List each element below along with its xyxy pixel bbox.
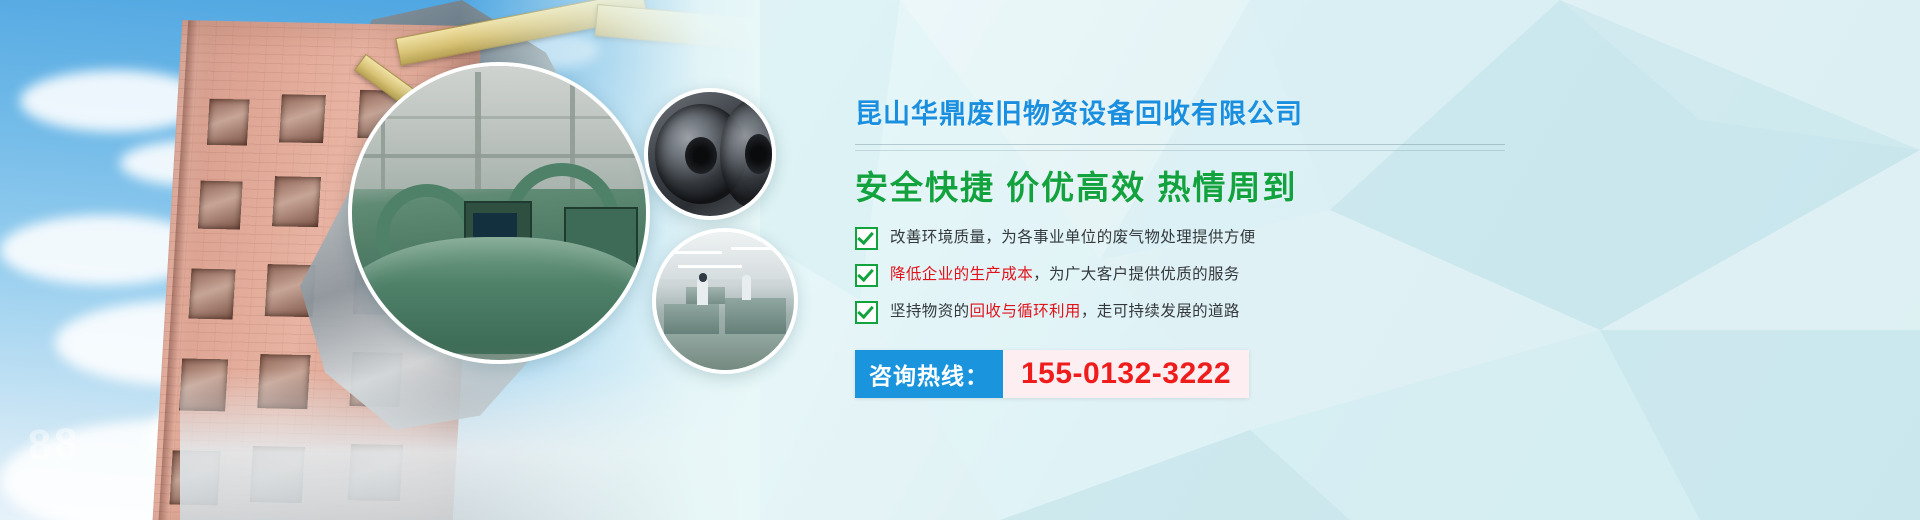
divider (855, 144, 1505, 151)
plain-phrase: 坚持物资的 (890, 303, 970, 320)
highlighted-phrase: 回收与循环利用 (970, 303, 1081, 320)
check-icon (855, 264, 878, 287)
chiller-photo (348, 62, 650, 364)
promo-banner: 88 (0, 0, 1920, 520)
benefit-list: 改善环境质量，为各事业单位的废气物处理提供方便 降低企业的生产成本，为广大客户提… (855, 227, 1555, 324)
watermark: 88 (27, 419, 82, 470)
pressure-tank (348, 237, 650, 355)
hotline-bar[interactable]: 咨询热线： 155-0132-3222 (855, 350, 1249, 398)
hotline-label: 咨询热线： (855, 350, 1003, 398)
workshop-floor (656, 334, 794, 370)
plain-phrase: ，走可持续发展的道路 (1081, 303, 1240, 320)
check-icon (855, 227, 878, 250)
list-item: 改善环境质量，为各事业单位的废气物处理提供方便 (855, 227, 1555, 250)
workshop-ceiling (656, 232, 794, 279)
factory-hall (352, 66, 646, 189)
benefit-text-1: 改善环境质量，为各事业单位的废气物处理提供方便 (890, 229, 1256, 248)
slogan: 安全快捷 价优高效 热情周到 (855, 161, 1555, 209)
benefit-text-3: 坚持物资的回收与循环利用，走可持续发展的道路 (890, 303, 1240, 322)
list-item: 坚持物资的回收与循环利用，走可持续发展的道路 (855, 301, 1555, 324)
steel-coils-photo (644, 88, 776, 220)
list-item: 降低企业的生产成本，为广大客户提供优质的服务 (855, 264, 1555, 287)
chiller-image (352, 66, 646, 360)
plain-phrase: 改善环境质量，为各事业单位的废气物处理提供方便 (890, 229, 1256, 246)
check-icon (855, 301, 878, 324)
steel-coils-image (648, 92, 772, 216)
company-name: 昆山华鼎废旧物资设备回收有限公司 (855, 92, 1555, 131)
workshop-image (656, 232, 794, 370)
text-content: 昆山华鼎废旧物资设备回收有限公司 安全快捷 价优高效 热情周到 改善环境质量，为… (855, 92, 1555, 398)
workshop-photo (652, 228, 798, 374)
plain-phrase: ，为广大客户提供优质的服务 (1033, 266, 1240, 283)
highlighted-phrase: 降低企业的生产成本 (890, 266, 1033, 283)
benefit-text-2: 降低企业的生产成本，为广大客户提供优质的服务 (890, 266, 1240, 285)
hotline-number[interactable]: 155-0132-3222 (1003, 350, 1249, 398)
